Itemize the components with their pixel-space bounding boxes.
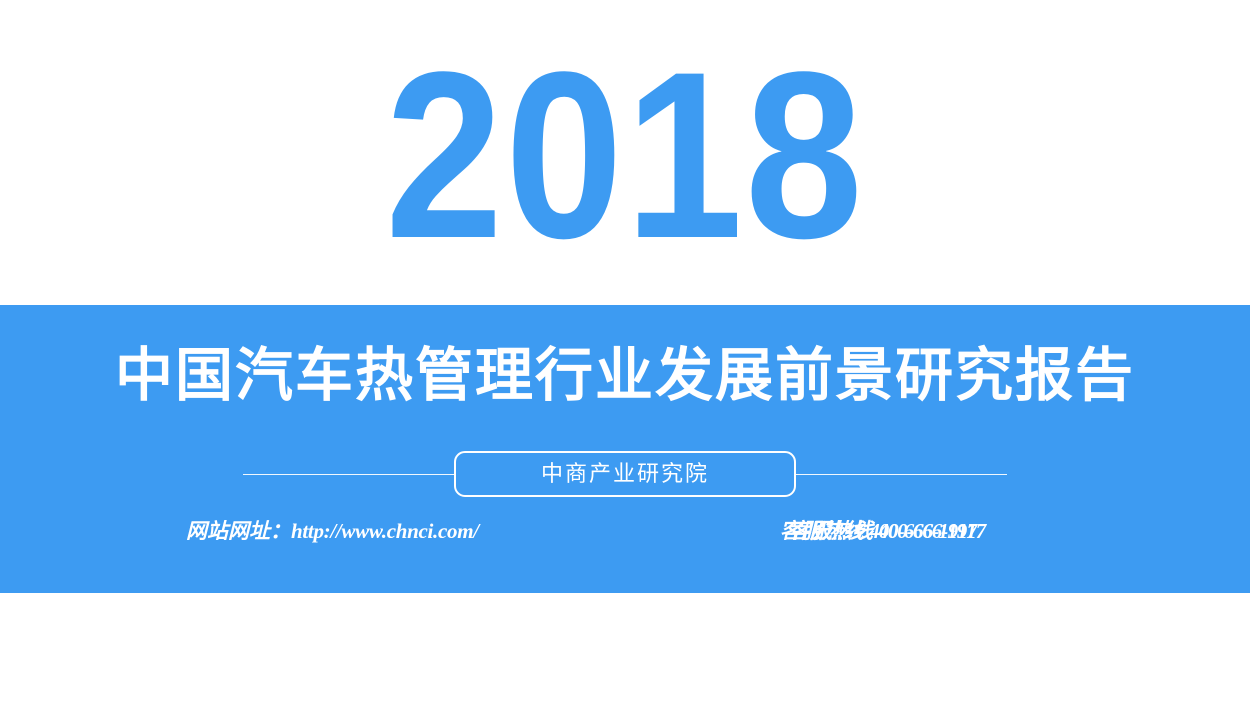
hotline-label: 客服热线	[789, 519, 873, 543]
divider-right	[795, 474, 1007, 475]
page-title: 中国汽车热管理行业发展前景研究报告	[0, 342, 1250, 410]
hotline-info: 客服热线 400-666-1917 客服热线 400-666-1917	[780, 521, 1040, 555]
organization-badge: 中商产业研究院	[454, 451, 796, 497]
cover-year: 2018	[385, 36, 865, 273]
website-info: 网站网址：http://www.chnci.com/	[186, 521, 479, 542]
organization-name: 中商产业研究院	[541, 463, 709, 485]
title-band: 中国汽车热管理行业发展前景研究报告 中商产业研究院 网站网址：http://ww…	[0, 305, 1250, 593]
hotline-number: 400-666-1917	[878, 519, 985, 543]
organization-row: 中商产业研究院	[0, 450, 1250, 498]
report-cover-slide: 2018 中国汽车热管理行业发展前景研究报告 中商产业研究院 网站网址：http…	[0, 0, 1250, 720]
year-area: 2018	[0, 0, 1250, 305]
hotline-text-layer-front: 客服热线 400-666-1917	[789, 521, 985, 542]
footer-contact-row: 网站网址：http://www.chnci.com/ 客服热线 400-666-…	[0, 521, 1250, 561]
website-label: 网站网址：	[186, 519, 291, 543]
divider-left	[243, 474, 455, 475]
website-url[interactable]: http://www.chnci.com/	[291, 519, 479, 543]
